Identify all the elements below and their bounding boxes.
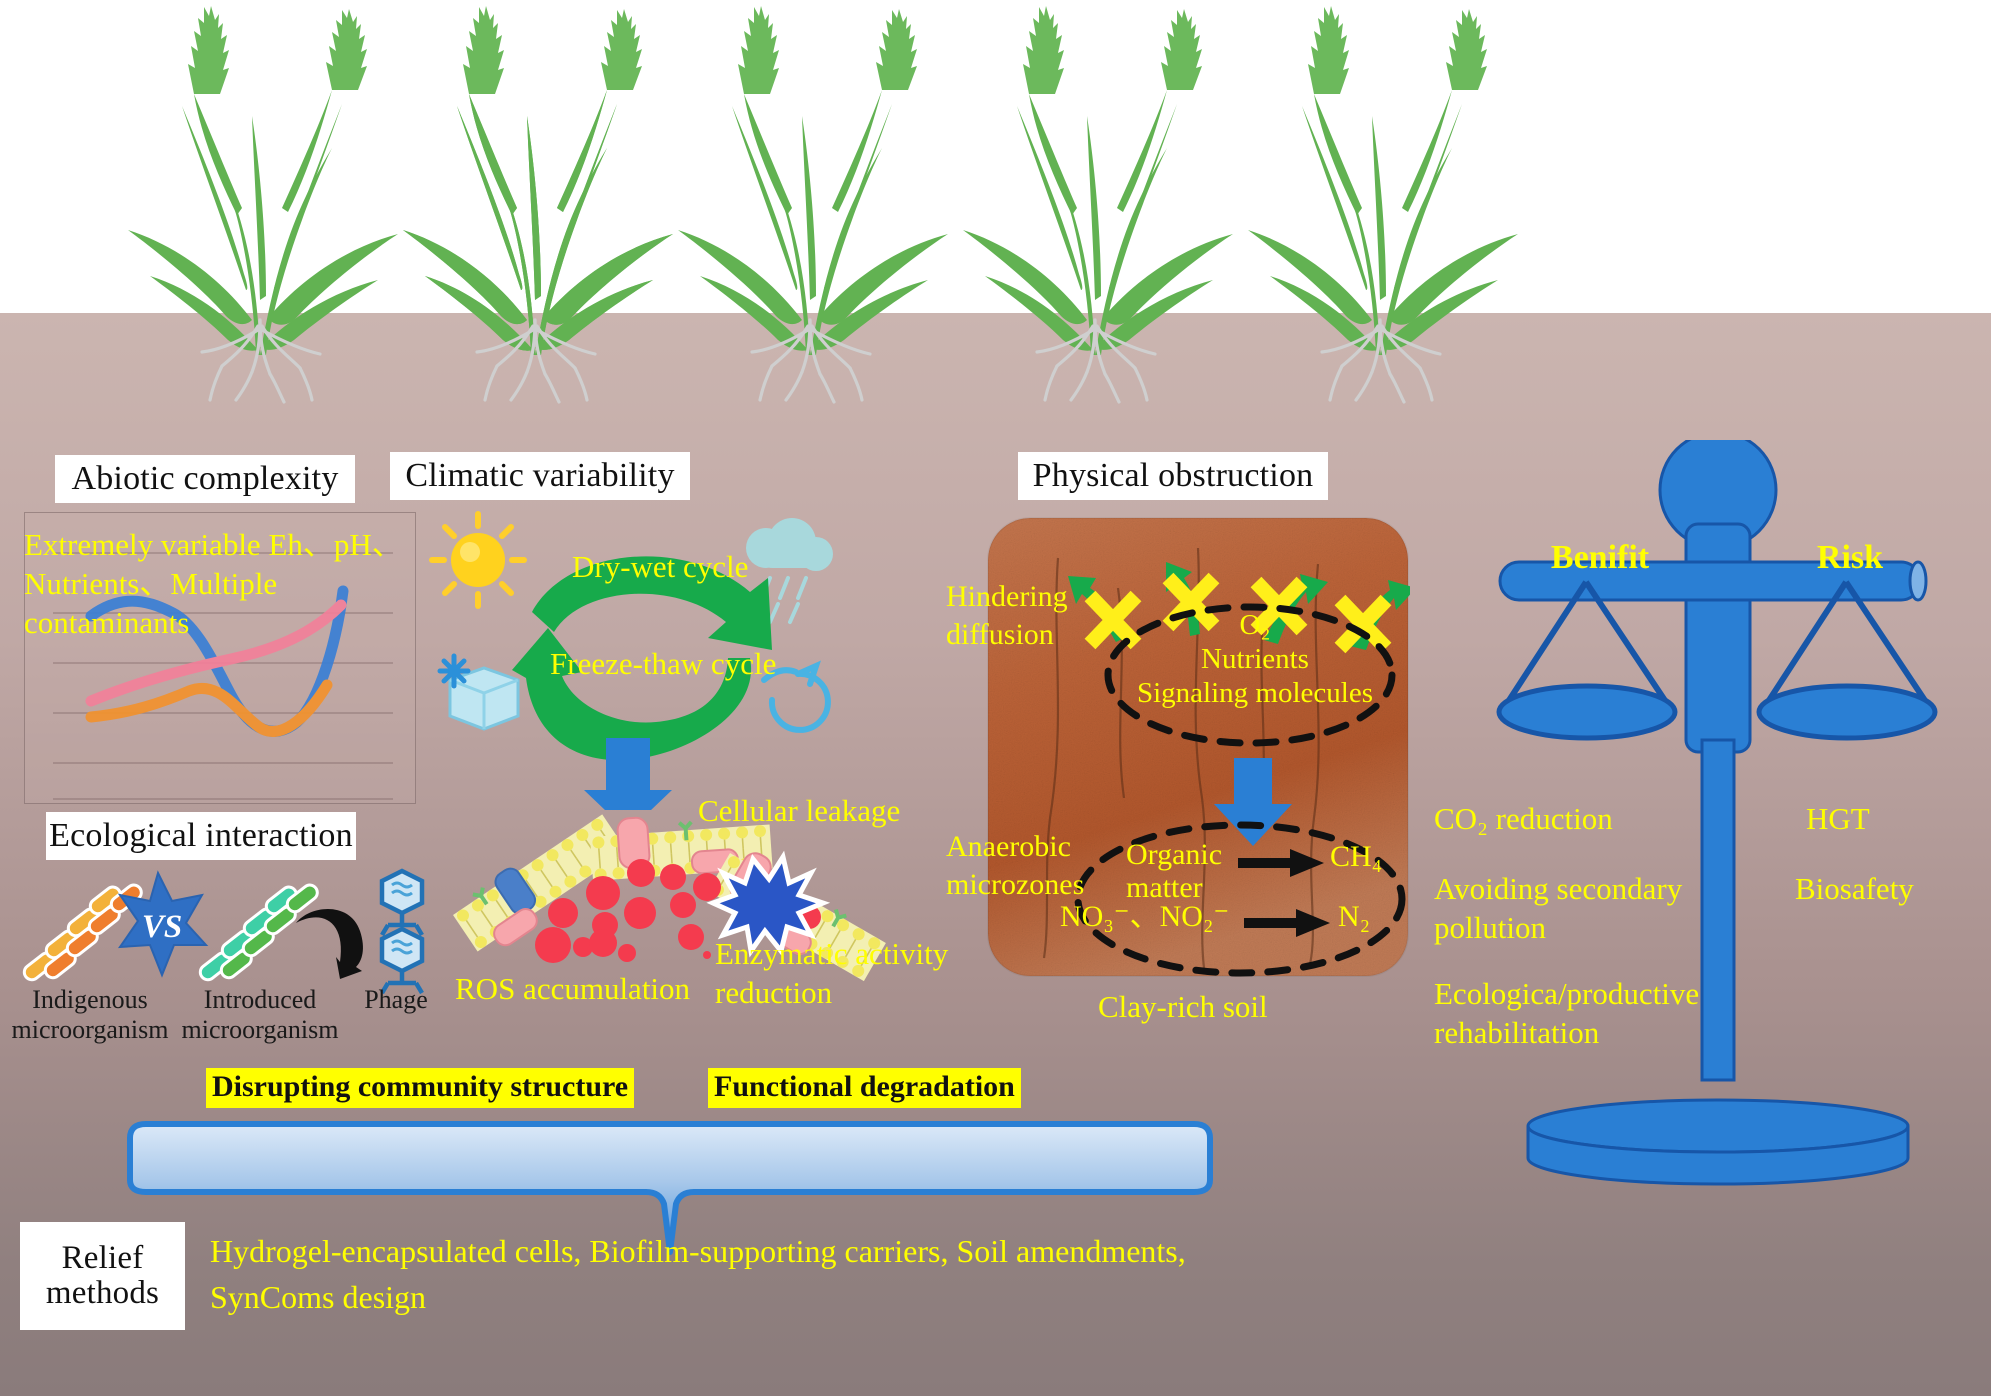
sun-icon (432, 514, 524, 606)
dinitrogen-label: N₂ (1338, 898, 1370, 936)
plant-3 (660, 0, 960, 360)
introduced-microorganism-icon (197, 882, 320, 983)
relief-methods-plate: Relief methods (20, 1222, 185, 1330)
benefit-item-3: Ecologica/productive rehabilitation (1434, 975, 1744, 1053)
ros-accumulation-label: ROS accumulation (455, 970, 690, 1009)
risk-pan-dish (1759, 686, 1935, 738)
organic-matter-label: Organic matter (1126, 838, 1222, 904)
cellular-leakage-label: Cellular leakage (698, 792, 900, 831)
reaction-arrow-2 (1244, 908, 1332, 938)
risk-pan-label: Risk (1785, 537, 1915, 580)
benefit-item-1: CO₂ reduction (1434, 800, 1613, 839)
benefit-pan-dish (1499, 686, 1675, 738)
freeze-thaw-cycle-label: Freeze-thaw cycle (550, 645, 776, 684)
outcome-disrupting-structure: Disrupting community structure (206, 1068, 634, 1108)
panel-title-abiotic: Abiotic complexity (55, 455, 355, 503)
risk-item-1: HGT (1806, 800, 1870, 839)
plant-5 (1230, 0, 1530, 360)
benefit-item-2: Avoiding secondary pollution (1434, 870, 1734, 948)
hindering-diffusion-label: Hindering diffusion (946, 578, 1068, 653)
dry-wet-cycle-label: Dry-wet cycle (572, 548, 748, 587)
indigenous-label: Indigenous microorganism (0, 985, 180, 1045)
relief-methods-body: Hydrogel-encapsulated cells, Biofilm-sup… (210, 1228, 1330, 1321)
enzyme-reduction-label: Enzymatic activity reduction (715, 935, 948, 1013)
risk-item-2: Biosafety (1795, 870, 1914, 909)
panel-title-climatic: Climatic variability (390, 452, 690, 500)
benefit-pan-label: Benifit (1520, 537, 1680, 580)
panel-title-ecological: Ecological interaction (46, 812, 356, 860)
clay-rich-soil-caption: Clay-rich soil (1098, 988, 1268, 1027)
panel-title-physical: Physical obstruction (1018, 452, 1328, 500)
infection-arrow-icon (296, 909, 363, 979)
plant-4 (945, 0, 1245, 360)
methane-label: CH₄ (1330, 838, 1382, 876)
ice-cube-icon (440, 656, 518, 729)
figure-canvas: Abiotic complexity Extremely variable Eh… (0, 0, 1991, 1396)
reaction-arrow-1 (1238, 848, 1326, 878)
phage-icon (382, 871, 422, 993)
outcome-functional-degradation: Functional degradation (708, 1068, 1021, 1108)
anaerobic-microzones-label: Anaerobic microzones (946, 828, 1084, 903)
introduced-label: Introduced microorganism (160, 985, 360, 1045)
ecological-graphic: VS (10, 865, 430, 995)
blocked-molecules-label: O₂ Nutrients Signaling molecules (1120, 608, 1390, 711)
balance-column (1686, 524, 1750, 752)
vs-label: VS (142, 909, 182, 945)
nitrate-nitrite-label: NO₃⁻、NO₂⁻ (1060, 898, 1229, 936)
plant-2 (385, 0, 685, 360)
abiotic-body-text: Extremely variable Eh、pH、 Nutrients、Mult… (24, 526, 444, 642)
plant-1 (110, 0, 410, 360)
